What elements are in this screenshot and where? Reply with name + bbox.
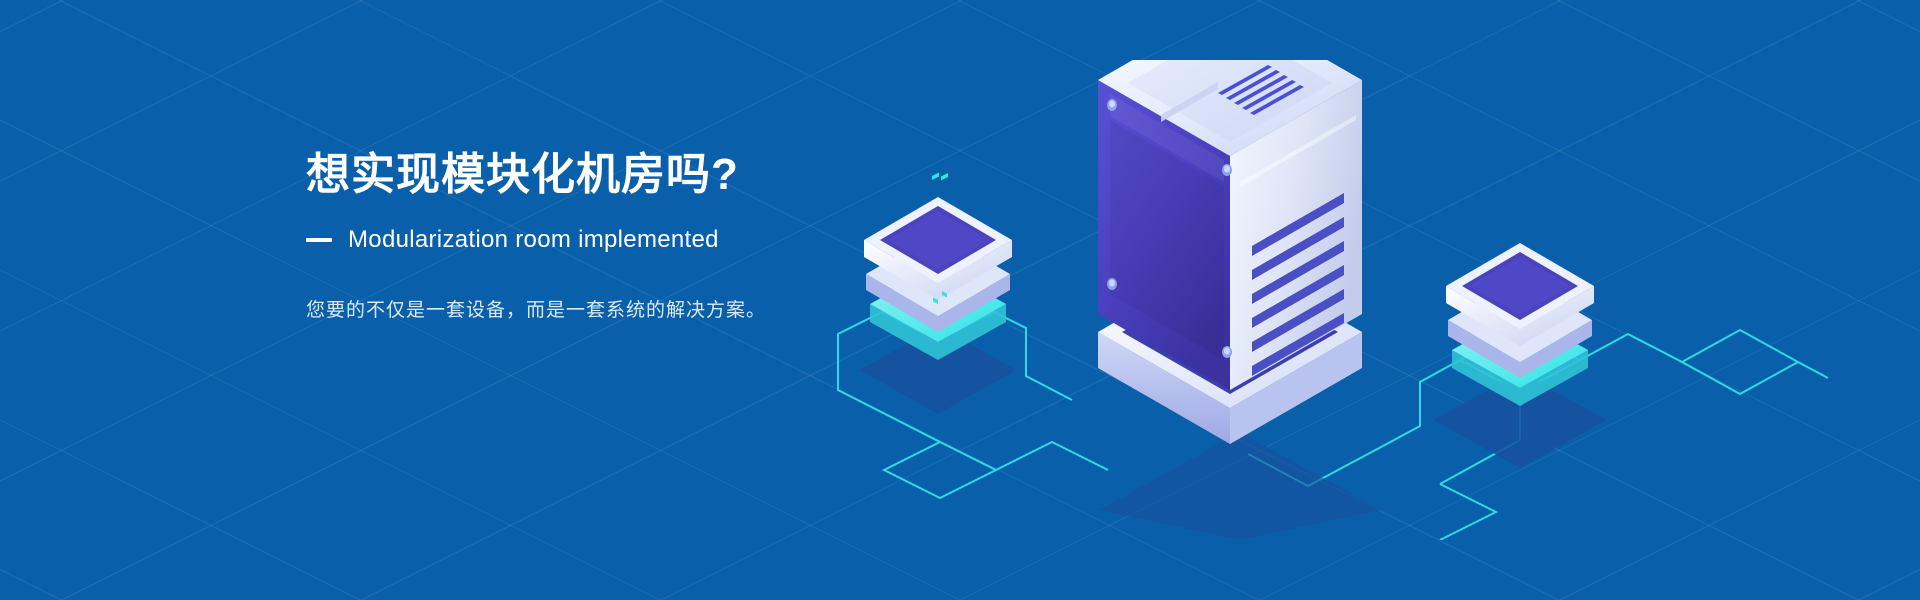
hero-banner: 想实现模块化机房吗? Modularization room implement… (0, 0, 1920, 600)
hero-copy: 想实现模块化机房吗? Modularization room implement… (306, 148, 1006, 325)
page-title: 想实现模块化机房吗? (306, 148, 1006, 202)
subheadline-row: Modularization room implemented (306, 226, 1006, 254)
page-subtitle: Modularization room implemented (348, 226, 719, 254)
accent-dash-icon (306, 238, 332, 242)
page-description: 您要的不仅是一套设备，而是一套系统的解决方案。 (306, 297, 1006, 326)
